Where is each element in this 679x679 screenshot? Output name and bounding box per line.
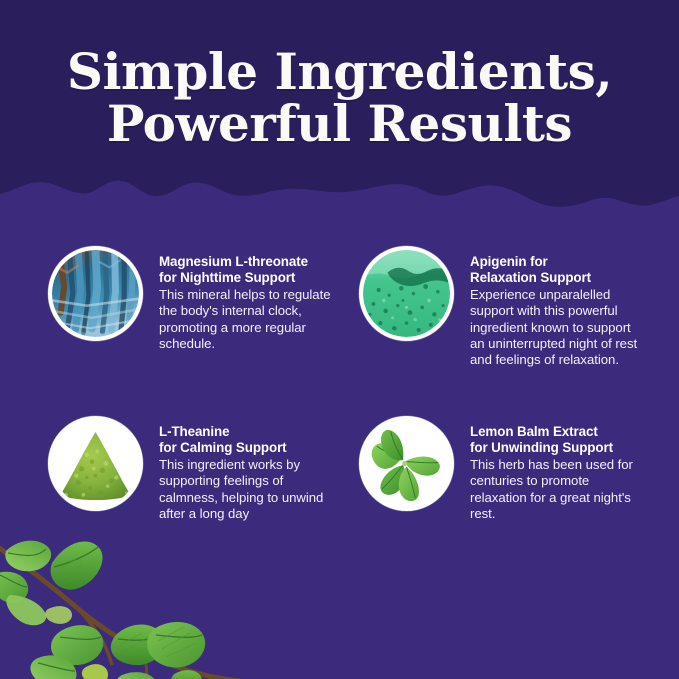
l-theanine-copy: L-Theanine for Calming Support This ingr… <box>159 416 331 522</box>
lemon-balm-title-line-1: Lemon Balm Extract <box>470 424 642 440</box>
page-title: Simple Ingredients, Powerful Results <box>0 46 679 150</box>
apigenin-green-powder-photo <box>359 246 454 341</box>
magnesium-description: This mineral helps to regulate the body'… <box>159 287 331 353</box>
headline-line-2: Powerful Results <box>0 98 679 150</box>
l-theanine-description: This ingredient works by supporting feel… <box>159 457 331 523</box>
headline-line-1: Simple Ingredients, <box>0 46 679 98</box>
lemon-balm-copy: Lemon Balm Extract for Unwinding Support… <box>470 416 642 522</box>
lemon-balm-title-line-2: for Unwinding Support <box>470 440 642 456</box>
magnesium-copy: Magnesium L-threonate for Nighttime Supp… <box>159 246 331 352</box>
apigenin-title-line-1: Apigenin for <box>470 254 642 270</box>
ingredients-infographic: { "theme": { "header_purple": "#2A1E5C",… <box>0 0 679 679</box>
ingredient-card-lemon-balm: Lemon Balm Extract for Unwinding Support… <box>359 416 642 522</box>
magnesium-title-line-1: Magnesium L-threonate <box>159 254 331 270</box>
l-theanine-title-line-2: for Calming Support <box>159 440 331 456</box>
lemon-balm-description: This herb has been used for centuries to… <box>470 457 642 523</box>
l-theanine-title-line-1: L-Theanine <box>159 424 331 440</box>
ingredient-card-apigenin: Apigenin for Relaxation Support Experien… <box>359 246 642 369</box>
apigenin-copy: Apigenin for Relaxation Support Experien… <box>470 246 642 369</box>
magnesium-crystals-photo <box>48 246 143 341</box>
apigenin-description: Experience unparalelled support with thi… <box>470 287 642 369</box>
ingredient-card-magnesium: Magnesium L-threonate for Nighttime Supp… <box>48 246 331 352</box>
lemon-balm-leaves-photo <box>359 416 454 511</box>
ingredient-card-l-theanine: L-Theanine for Calming Support This ingr… <box>48 416 331 522</box>
l-theanine-green-powder-photo <box>48 416 143 511</box>
magnesium-title-line-2: for Nighttime Support <box>159 270 331 286</box>
apigenin-title-line-2: Relaxation Support <box>470 270 642 286</box>
header-band: Simple Ingredients, Powerful Results <box>0 0 679 212</box>
lemon-balm-sprig-decoration <box>0 525 240 679</box>
